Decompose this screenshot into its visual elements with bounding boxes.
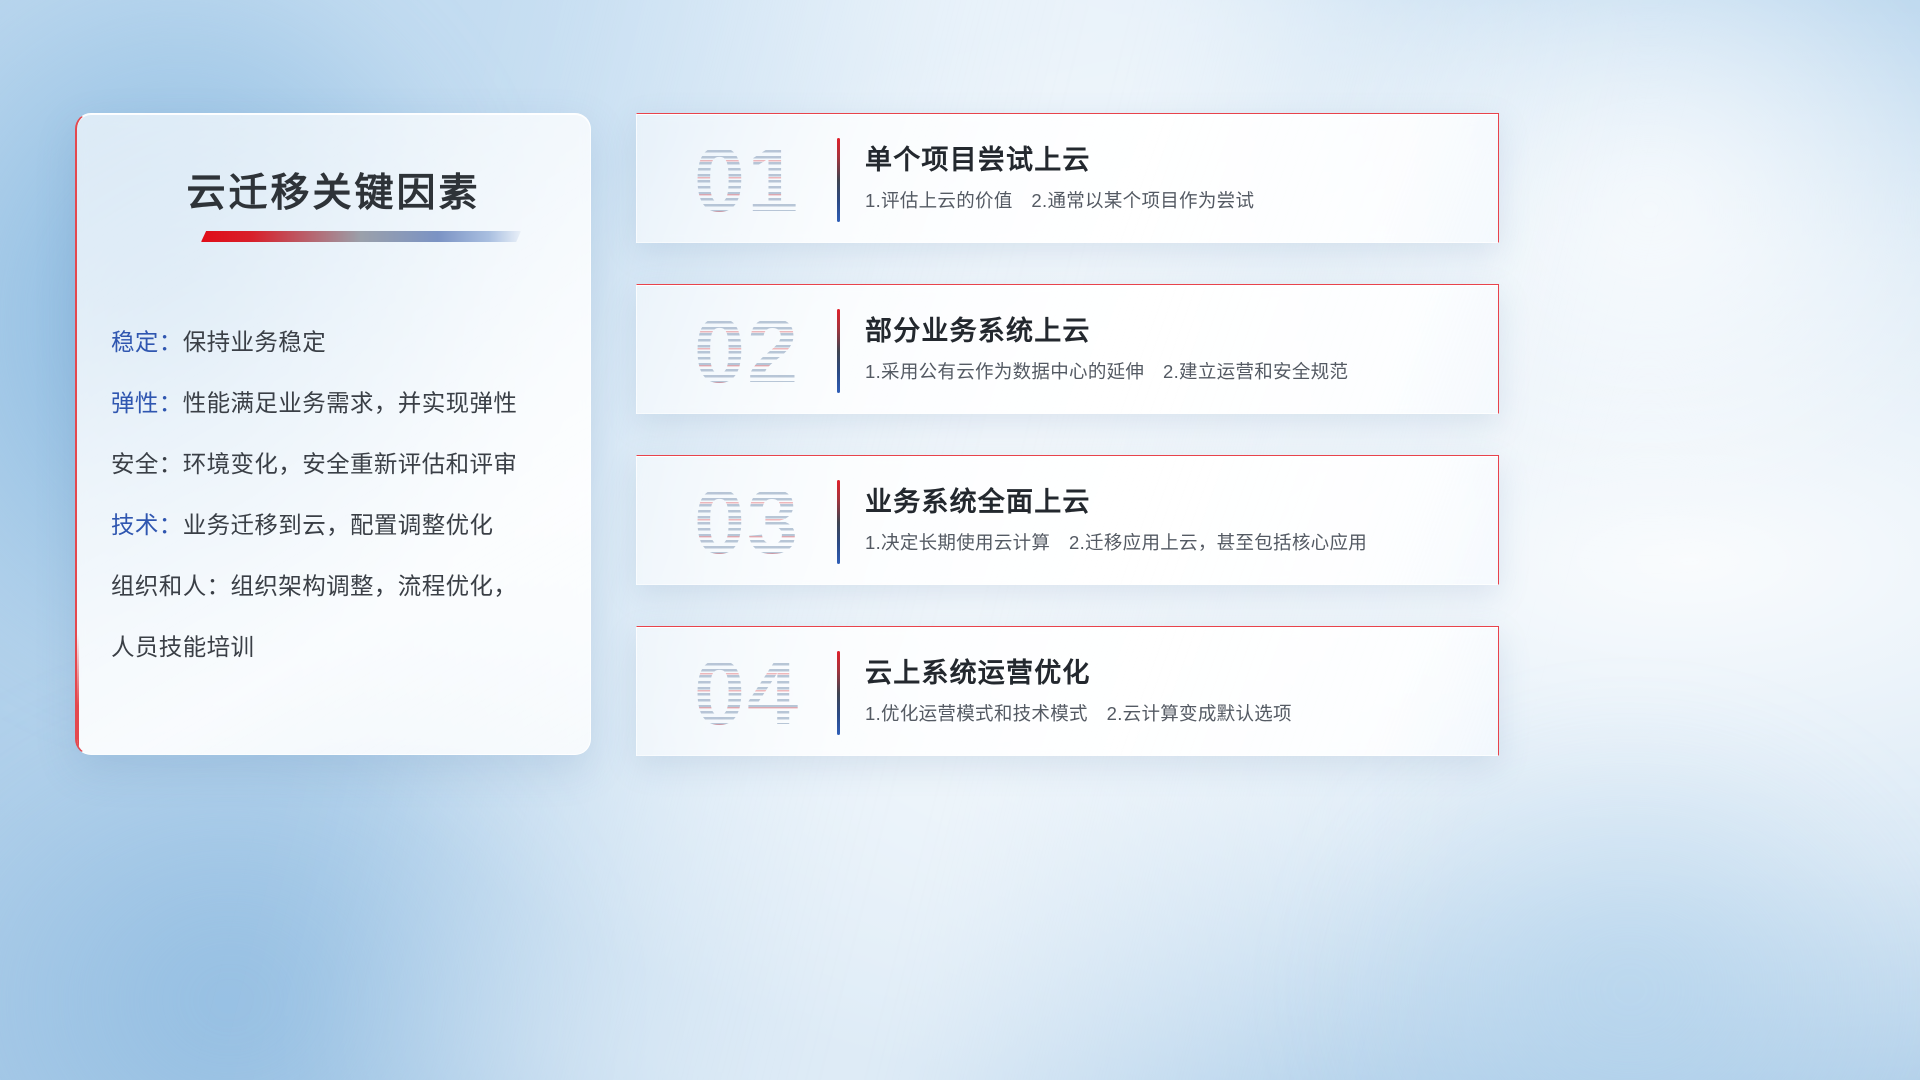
stage-number-ghost: 03: [667, 468, 827, 576]
stage-description: 1.采用公有云作为数据中心的延伸 2.建立运营和安全规范: [865, 358, 1348, 384]
list-item: 稳定：保持业务稳定: [111, 312, 570, 373]
title-underline-gradient: [201, 231, 521, 242]
stage-number-ghost: 04: [667, 639, 827, 747]
stage-card[interactable]: 01 01 单个项目尝试上云 1.评估上云的价值 2.通常以某个项目作为尝试: [636, 113, 1499, 243]
list-item: 技术：业务迁移到云，配置调整优化: [111, 495, 570, 556]
list-item-text: 环境变化，安全重新评估和评审: [183, 451, 518, 477]
stage-description: 1.决定长期使用云计算 2.迁移应用上云，甚至包括核心应用: [865, 529, 1367, 555]
list-item-label: 安全：: [111, 451, 183, 477]
list-item: 弹性：性能满足业务需求，并实现弹性: [111, 373, 570, 434]
list-item: 人员技能培训: [111, 617, 570, 678]
stage-heading: 部分业务系统上云: [865, 309, 1091, 348]
list-item-text: 保持业务稳定: [183, 329, 326, 355]
list-item-label: 技术：: [111, 512, 183, 538]
stage-accent-bar: [837, 138, 840, 222]
key-factors-list: 稳定：保持业务稳定 弹性：性能满足业务需求，并实现弹性 安全：环境变化，安全重新…: [111, 312, 570, 678]
list-item-text: 性能满足业务需求，并实现弹性: [183, 390, 518, 416]
list-item-text: 人员技能培训: [111, 634, 254, 660]
stage-heading: 云上系统运营优化: [865, 651, 1091, 690]
page-title: 云迁移关键因素: [77, 162, 590, 218]
key-factors-panel: 云迁移关键因素 稳定：保持业务稳定 弹性：性能满足业务需求，并实现弹性 安全：环…: [75, 113, 591, 755]
stage-description: 1.优化运营模式和技术模式 2.云计算变成默认选项: [865, 700, 1292, 726]
list-item-label: 组织和人：: [111, 573, 231, 599]
stage-number-ghost: 01: [667, 126, 827, 234]
list-item-text: 业务迁移到云，配置调整优化: [183, 512, 494, 538]
stage-description: 1.评估上云的价值 2.通常以某个项目作为尝试: [865, 187, 1254, 213]
stage-number-ghost: 02: [667, 297, 827, 405]
stage-accent-bar: [837, 480, 840, 564]
stage-accent-bar: [837, 309, 840, 393]
stage-heading: 业务系统全面上云: [865, 480, 1091, 519]
stage-card[interactable]: 02 02 部分业务系统上云 1.采用公有云作为数据中心的延伸 2.建立运营和安…: [636, 284, 1499, 414]
list-item: 安全：环境变化，安全重新评估和评审: [111, 434, 570, 495]
list-item-text: 组织架构调整，流程优化，: [231, 573, 518, 599]
list-item-label: 稳定：: [111, 329, 183, 355]
stage-card[interactable]: 03 03 业务系统全面上云 1.决定长期使用云计算 2.迁移应用上云，甚至包括…: [636, 455, 1499, 585]
list-item-label: 弹性：: [111, 390, 183, 416]
stage-accent-bar: [837, 651, 840, 735]
stage-heading: 单个项目尝试上云: [865, 138, 1091, 177]
stage-card[interactable]: 04 04 云上系统运营优化 1.优化运营模式和技术模式 2.云计算变成默认选项: [636, 626, 1499, 756]
list-item: 组织和人：组织架构调整，流程优化，: [111, 556, 570, 617]
slide-content: 云迁移关键因素 稳定：保持业务稳定 弹性：性能满足业务需求，并实现弹性 安全：环…: [0, 0, 1920, 1080]
